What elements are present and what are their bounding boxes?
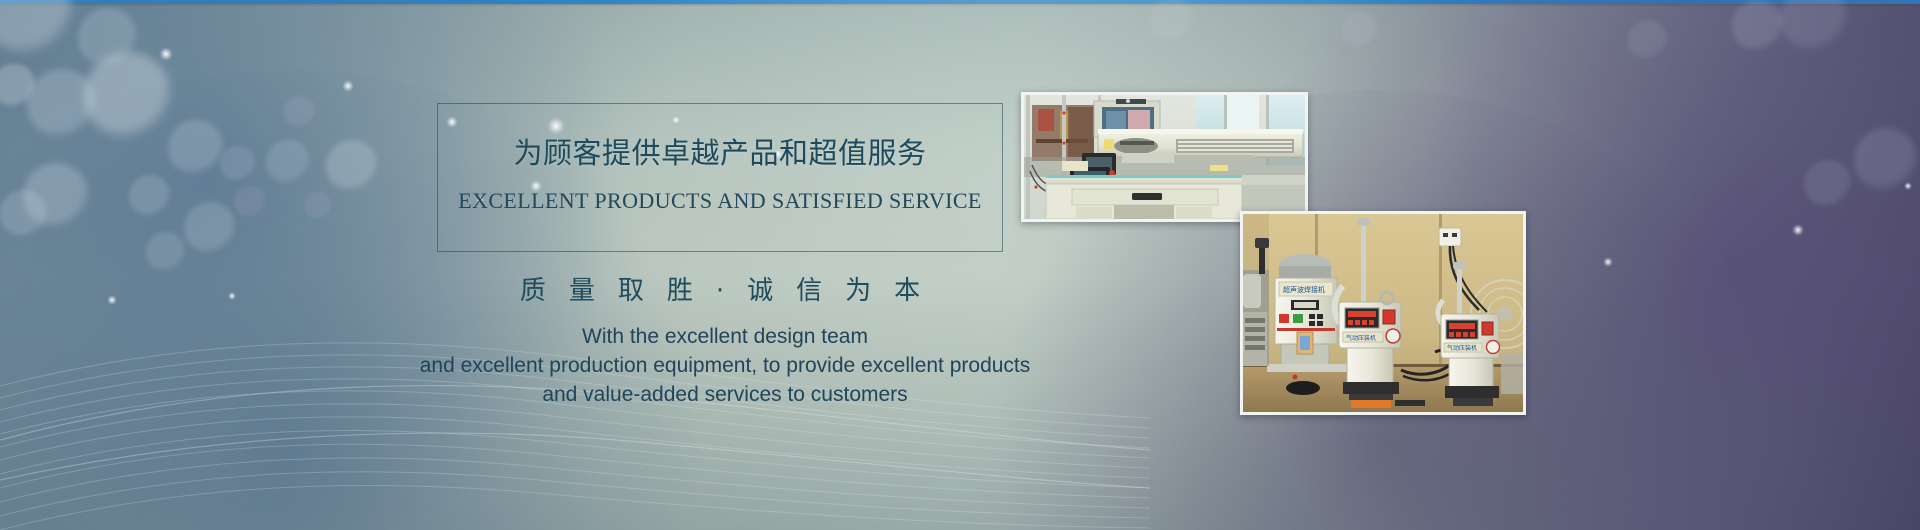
banner-text-block: 为顾客提供卓越产品和超值服务 EXCELLENT PRODUCTS AND SA… — [0, 0, 1250, 530]
paragraph-english: With the excellent design team and excel… — [330, 322, 1120, 409]
bokeh-circle — [1804, 160, 1852, 208]
hero-banner: 为顾客提供卓越产品和超值服务 EXCELLENT PRODUCTS AND SA… — [0, 0, 1920, 530]
bokeh-circle — [1732, 0, 1784, 52]
sparkle-dot — [1904, 182, 1912, 190]
photo-press-machines: 超声波焊接机 — [1240, 211, 1526, 415]
sparkle-dot — [1603, 257, 1613, 267]
photo-press-machines-art: 超声波焊接机 — [1243, 214, 1523, 412]
svg-text:气动压装机: 气动压装机 — [1346, 334, 1376, 342]
photo-machine-line-art — [1024, 95, 1305, 219]
bokeh-circle — [1780, 0, 1848, 52]
headline-frame — [437, 103, 1003, 252]
photo-machine-line — [1021, 92, 1308, 222]
svg-text:气动压装机: 气动压装机 — [1447, 344, 1477, 352]
headline-chinese: 为顾客提供卓越产品和超值服务 — [437, 130, 1003, 172]
slogan-chinese: 质量取胜·诚信为本 — [400, 270, 1040, 307]
sparkle-dot — [1792, 224, 1804, 236]
svg-text:超声波焊接机: 超声波焊接机 — [1283, 285, 1325, 294]
bokeh-circle — [1628, 20, 1668, 60]
headline-english: EXCELLENT PRODUCTS AND SATISFIED SERVICE — [437, 188, 1003, 214]
paragraph-line-3: and value-added services to customers — [330, 380, 1120, 409]
bokeh-circle — [1854, 128, 1918, 192]
paragraph-line-2: and excellent production equipment, to p… — [330, 351, 1120, 380]
paragraph-line-1: With the excellent design team — [330, 322, 1120, 351]
bokeh-circle — [1342, 12, 1378, 48]
